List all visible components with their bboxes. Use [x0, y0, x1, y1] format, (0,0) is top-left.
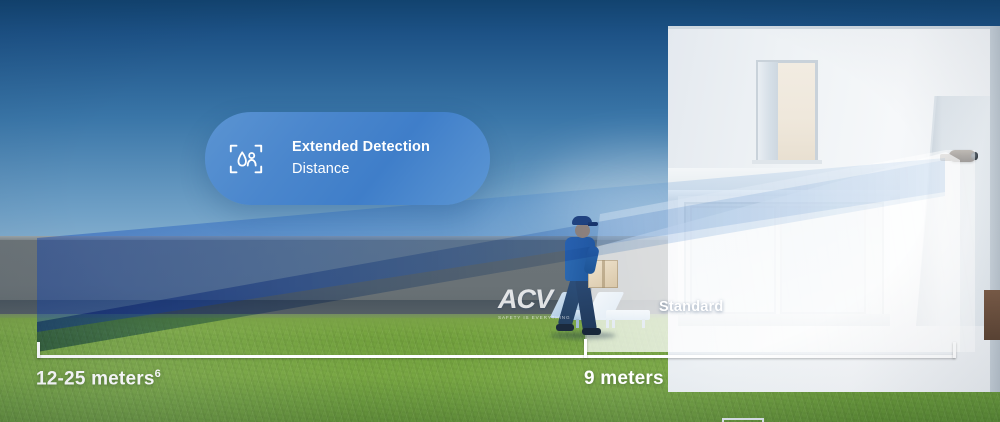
badge-line-2: Distance [292, 159, 430, 180]
measurement-tick-middle [584, 339, 587, 358]
window-sill [752, 160, 822, 164]
detection-range-illustration: ACV SAFETY IS EVERYTHING Standard Extend… [0, 0, 1000, 422]
badge-line-1: Extended Detection [292, 137, 430, 158]
brand-wordmark: ACV [498, 286, 602, 313]
standard-distance-label: 9 meters [584, 368, 664, 390]
brand-watermark: ACV SAFETY IS EVERYTHING [498, 286, 602, 320]
person-shoe [582, 328, 601, 335]
standard-range-label: Standard [659, 299, 723, 315]
person-detection-frame-icon [227, 140, 265, 178]
house-roof-edge [668, 26, 1000, 29]
badge-text: Extended Detection Distance [292, 137, 430, 179]
measurement-tick-left [37, 342, 40, 358]
side-door [984, 290, 1000, 340]
extended-distance-value: 12-25 meters [36, 368, 155, 389]
measurement-tick-right [953, 342, 956, 358]
wall-art [722, 418, 764, 422]
extended-distance-label: 12-25 meters6 [36, 368, 161, 390]
extended-distance-footnote: 6 [155, 368, 161, 380]
extended-detection-badge[interactable]: Extended Detection Distance [205, 112, 490, 205]
brand-tagline: SAFETY IS EVERYTHING [498, 315, 602, 320]
person-shoe [556, 324, 574, 331]
window-curtain [758, 62, 778, 162]
measurement-bracket [0, 336, 1000, 370]
measurement-baseline [37, 355, 955, 358]
parcel-tape [602, 260, 605, 288]
